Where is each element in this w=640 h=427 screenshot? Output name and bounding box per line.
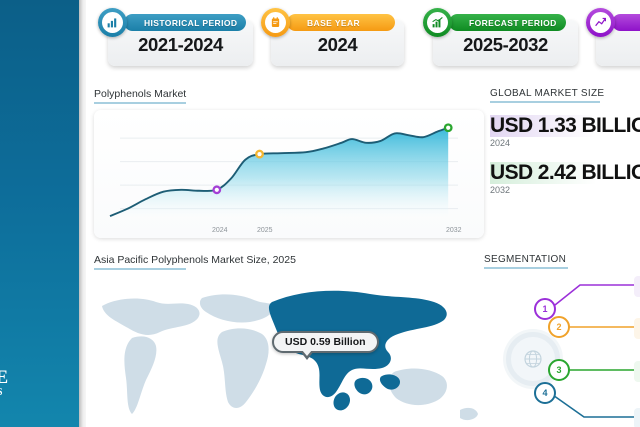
x-tick-2025: 2025 [257,227,273,234]
chart-heading-wrap: Polyphenols Market [94,88,484,104]
chart-marker-2032 [444,123,453,132]
chart-marker-2025 [255,150,264,159]
gms-heading: GLOBAL MARKET SIZE [490,88,604,99]
growth-chart-icon [423,8,452,37]
calendar-document-icon [261,8,290,37]
heading-rule [94,268,186,270]
segmentation-node-number: 3 [556,365,561,375]
gms-year: 2032 [490,185,640,195]
content-area: HISTORICAL PERIOD 2021-2024 BASE YEAR [86,0,640,427]
market-chart: 2024 2025 2032 [94,110,484,238]
calendar-document-icon-glyph [269,16,282,29]
segmentation-label-2[interactable]: By [634,318,640,339]
x-tick-2024: 2024 [212,227,228,234]
brand-logo-line2: IGHTS [0,387,76,399]
gms-value: USD 2.42 BILLION [490,162,640,184]
heading-rule [484,267,568,269]
chart-heading: Polyphenols Market [94,88,186,100]
segmentation-node-4[interactable]: 4 [534,382,556,404]
world-map: USD 0.59 Billion [94,276,484,426]
infographic-root: ols UNE IGHTS HISTORICAL PERIOD [0,0,640,427]
globe-network-icon-glyph [521,347,545,371]
chart-svg [94,110,484,238]
bar-chart-icon [98,8,127,37]
gms-entry-2032: USD 2.42 BILLION 2032 [490,162,640,195]
segmentation-node-number: 1 [542,304,547,314]
sidebar: ols UNE IGHTS [0,0,79,427]
badge-value: 2024 [271,34,404,56]
chart-marker-2024 [212,185,221,194]
badge-pill-label: FORECAST PERIOD [449,14,566,31]
trend-line-icon [586,8,615,37]
x-tick-2032: 2032 [446,227,462,234]
gms-value: USD 1.33 BILLION [490,115,640,137]
badge-value: 2021-2024 [108,34,253,56]
growth-chart-icon-glyph [431,16,444,29]
regional-map-panel: Asia Pacific Polyphenols Market Size, 20… [94,254,484,426]
segmentation-node-number: 4 [542,388,547,398]
badge-pill-label: HISTORICAL PERIOD [124,14,246,31]
segmentation-heading: SEGMENTATION [484,254,566,265]
map-tooltip-value: USD 0.59 Billion [285,336,366,348]
map-heading: Asia Pacific Polyphenols Market Size, 20… [94,254,296,266]
gms-heading-wrap: GLOBAL MARKET SIZE [490,88,640,103]
segmentation-panel: SEGMENTATION [484,254,640,424]
chart-area-fill [110,128,448,218]
trend-line-icon-glyph [594,16,607,29]
segmentation-label-4[interactable]: By [634,408,640,427]
segmentation-body: 1 2 3 4 By By By By [484,275,640,425]
segmentation-label-1[interactable]: By [634,276,640,297]
brand-logo-line1: UNE [0,368,76,387]
page-title: ols [0,14,76,45]
map-heading-wrap: Asia Pacific Polyphenols Market Size, 20… [94,254,484,270]
map-tooltip: USD 0.59 Billion [272,331,379,353]
badge-pill-label: BASE YEAR [287,14,395,31]
gms-year: 2024 [490,138,640,148]
segmentation-label-3[interactable]: By [634,361,640,382]
bar-chart-icon-glyph [106,16,119,29]
segmentation-node-2[interactable]: 2 [548,316,570,338]
market-chart-panel: Polyphenols Market [94,88,484,238]
global-market-size-panel: GLOBAL MARKET SIZE USD 1.33 BILLION 2024… [490,88,640,195]
heading-rule [490,101,600,103]
badge-value: 2025-2032 [433,34,578,56]
heading-rule [94,102,186,104]
badge-pill-label [612,14,640,31]
gms-entry-2024: USD 1.33 BILLION 2024 [490,115,640,148]
segmentation-node-3[interactable]: 3 [548,359,570,381]
badge-row: HISTORICAL PERIOD 2021-2024 BASE YEAR [94,8,640,70]
seg-heading-wrap: SEGMENTATION [484,254,640,269]
segmentation-node-number: 2 [556,322,561,332]
brand-logo: UNE IGHTS [0,368,76,399]
